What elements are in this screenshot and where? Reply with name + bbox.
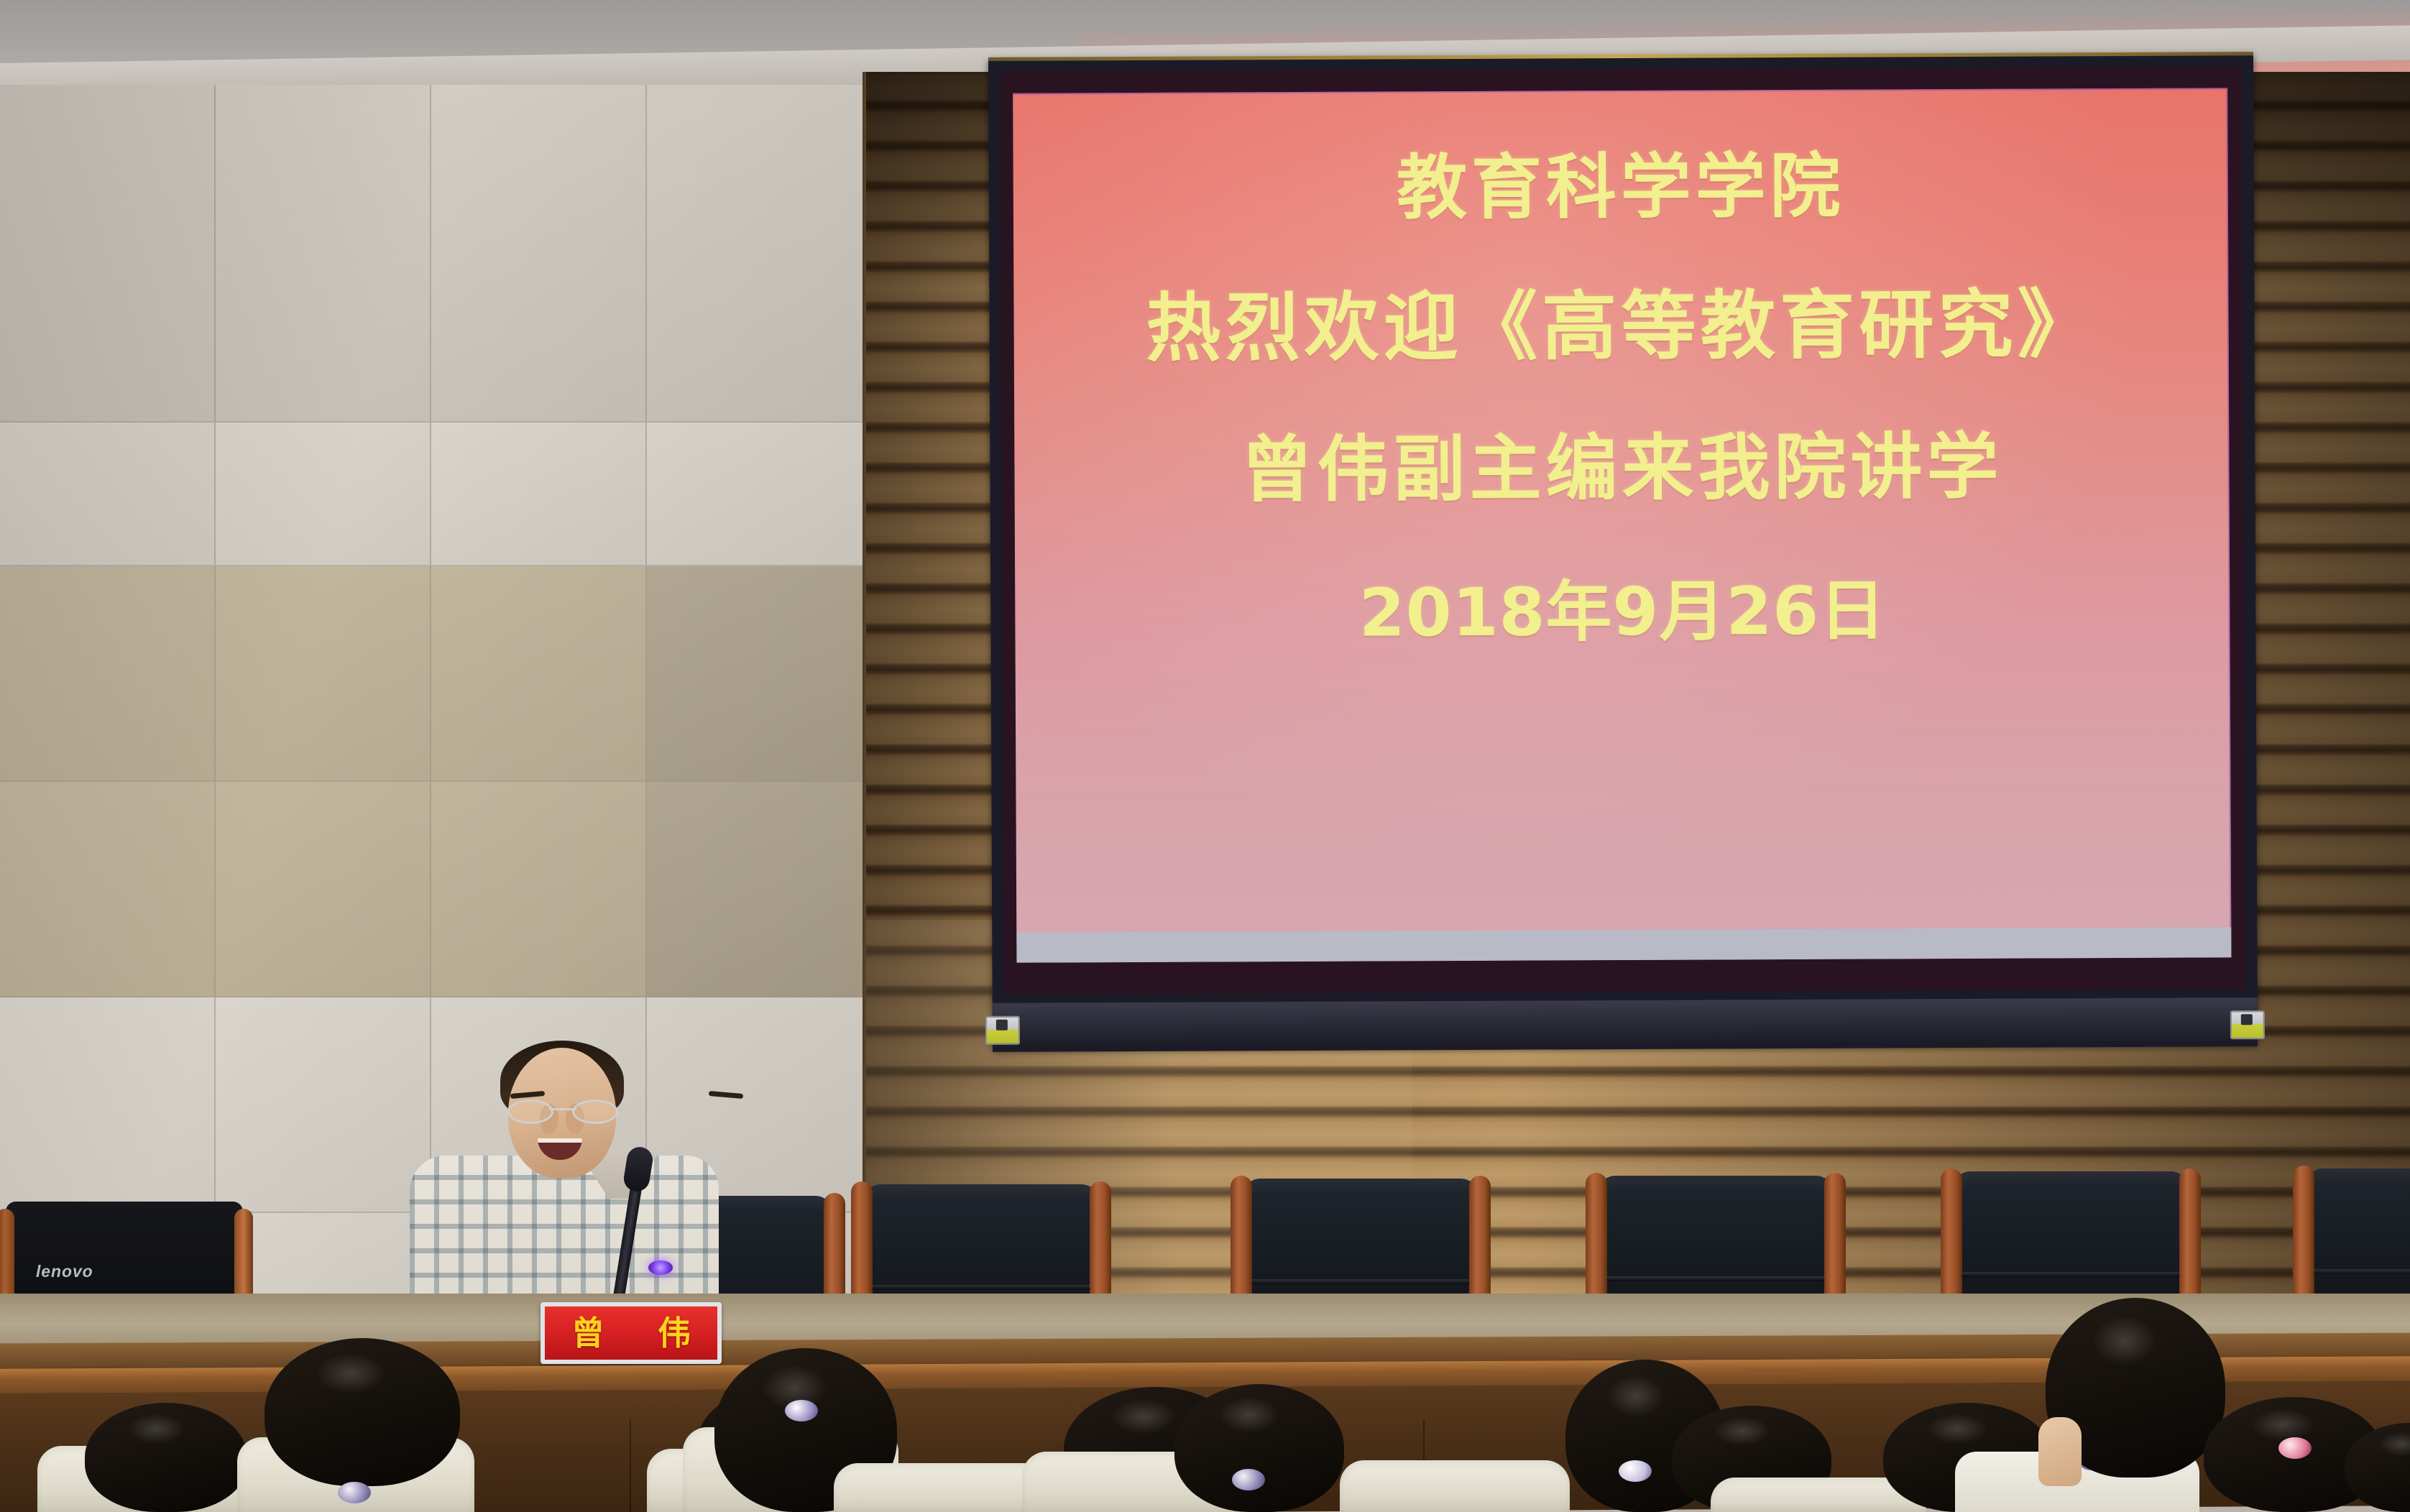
eyeglasses-icon bbox=[506, 1100, 620, 1121]
hair-tie bbox=[338, 1482, 371, 1503]
audience-head bbox=[85, 1403, 247, 1512]
hair-tie bbox=[785, 1400, 818, 1421]
lecture-hall-photo: 教育科学学院 热烈欢迎《高等教育研究》 曾伟副主编来我院讲学 2018年9月26… bbox=[0, 0, 2410, 1512]
projected-slide: 教育科学学院 热烈欢迎《高等教育研究》 曾伟副主编来我院讲学 2018年9月26… bbox=[1013, 88, 2231, 962]
hair-tie bbox=[1232, 1469, 1265, 1490]
slide-line-4-date: 2018年9月26日 bbox=[1359, 578, 1887, 646]
slide-line-1: 教育科学学院 bbox=[1397, 152, 1845, 224]
name-placard: 曾 伟 bbox=[541, 1302, 722, 1364]
placard-char-2: 伟 bbox=[658, 1317, 691, 1350]
lenovo-logo: lenovo bbox=[36, 1262, 93, 1281]
audience-seat-back bbox=[1340, 1460, 1570, 1512]
microphone-led bbox=[648, 1260, 673, 1275]
speaker-eyebrow-right bbox=[709, 1091, 743, 1099]
audience-head-ponytail bbox=[1174, 1384, 1344, 1512]
screen-bracket-left-icon bbox=[985, 1016, 1020, 1045]
audience-hand bbox=[2038, 1417, 2082, 1486]
hair-tie bbox=[2278, 1437, 2312, 1459]
hair-tie bbox=[1619, 1460, 1652, 1482]
table-panel-seam bbox=[630, 1419, 631, 1512]
audience-head bbox=[265, 1338, 460, 1486]
slide-line-2: 热烈欢迎《高等教育研究》 bbox=[1146, 287, 2097, 366]
slide-line-3: 曾伟副主编来我院讲学 bbox=[1241, 431, 2002, 507]
placard-char-1: 曾 bbox=[571, 1317, 604, 1350]
screen-bracket-right-icon bbox=[2230, 1010, 2265, 1039]
projection-screen[interactable]: 教育科学学院 热烈欢迎《高等教育研究》 曾伟副主编来我院讲学 2018年9月26… bbox=[988, 55, 2258, 1052]
screen-bottom-bar bbox=[993, 997, 2258, 1046]
